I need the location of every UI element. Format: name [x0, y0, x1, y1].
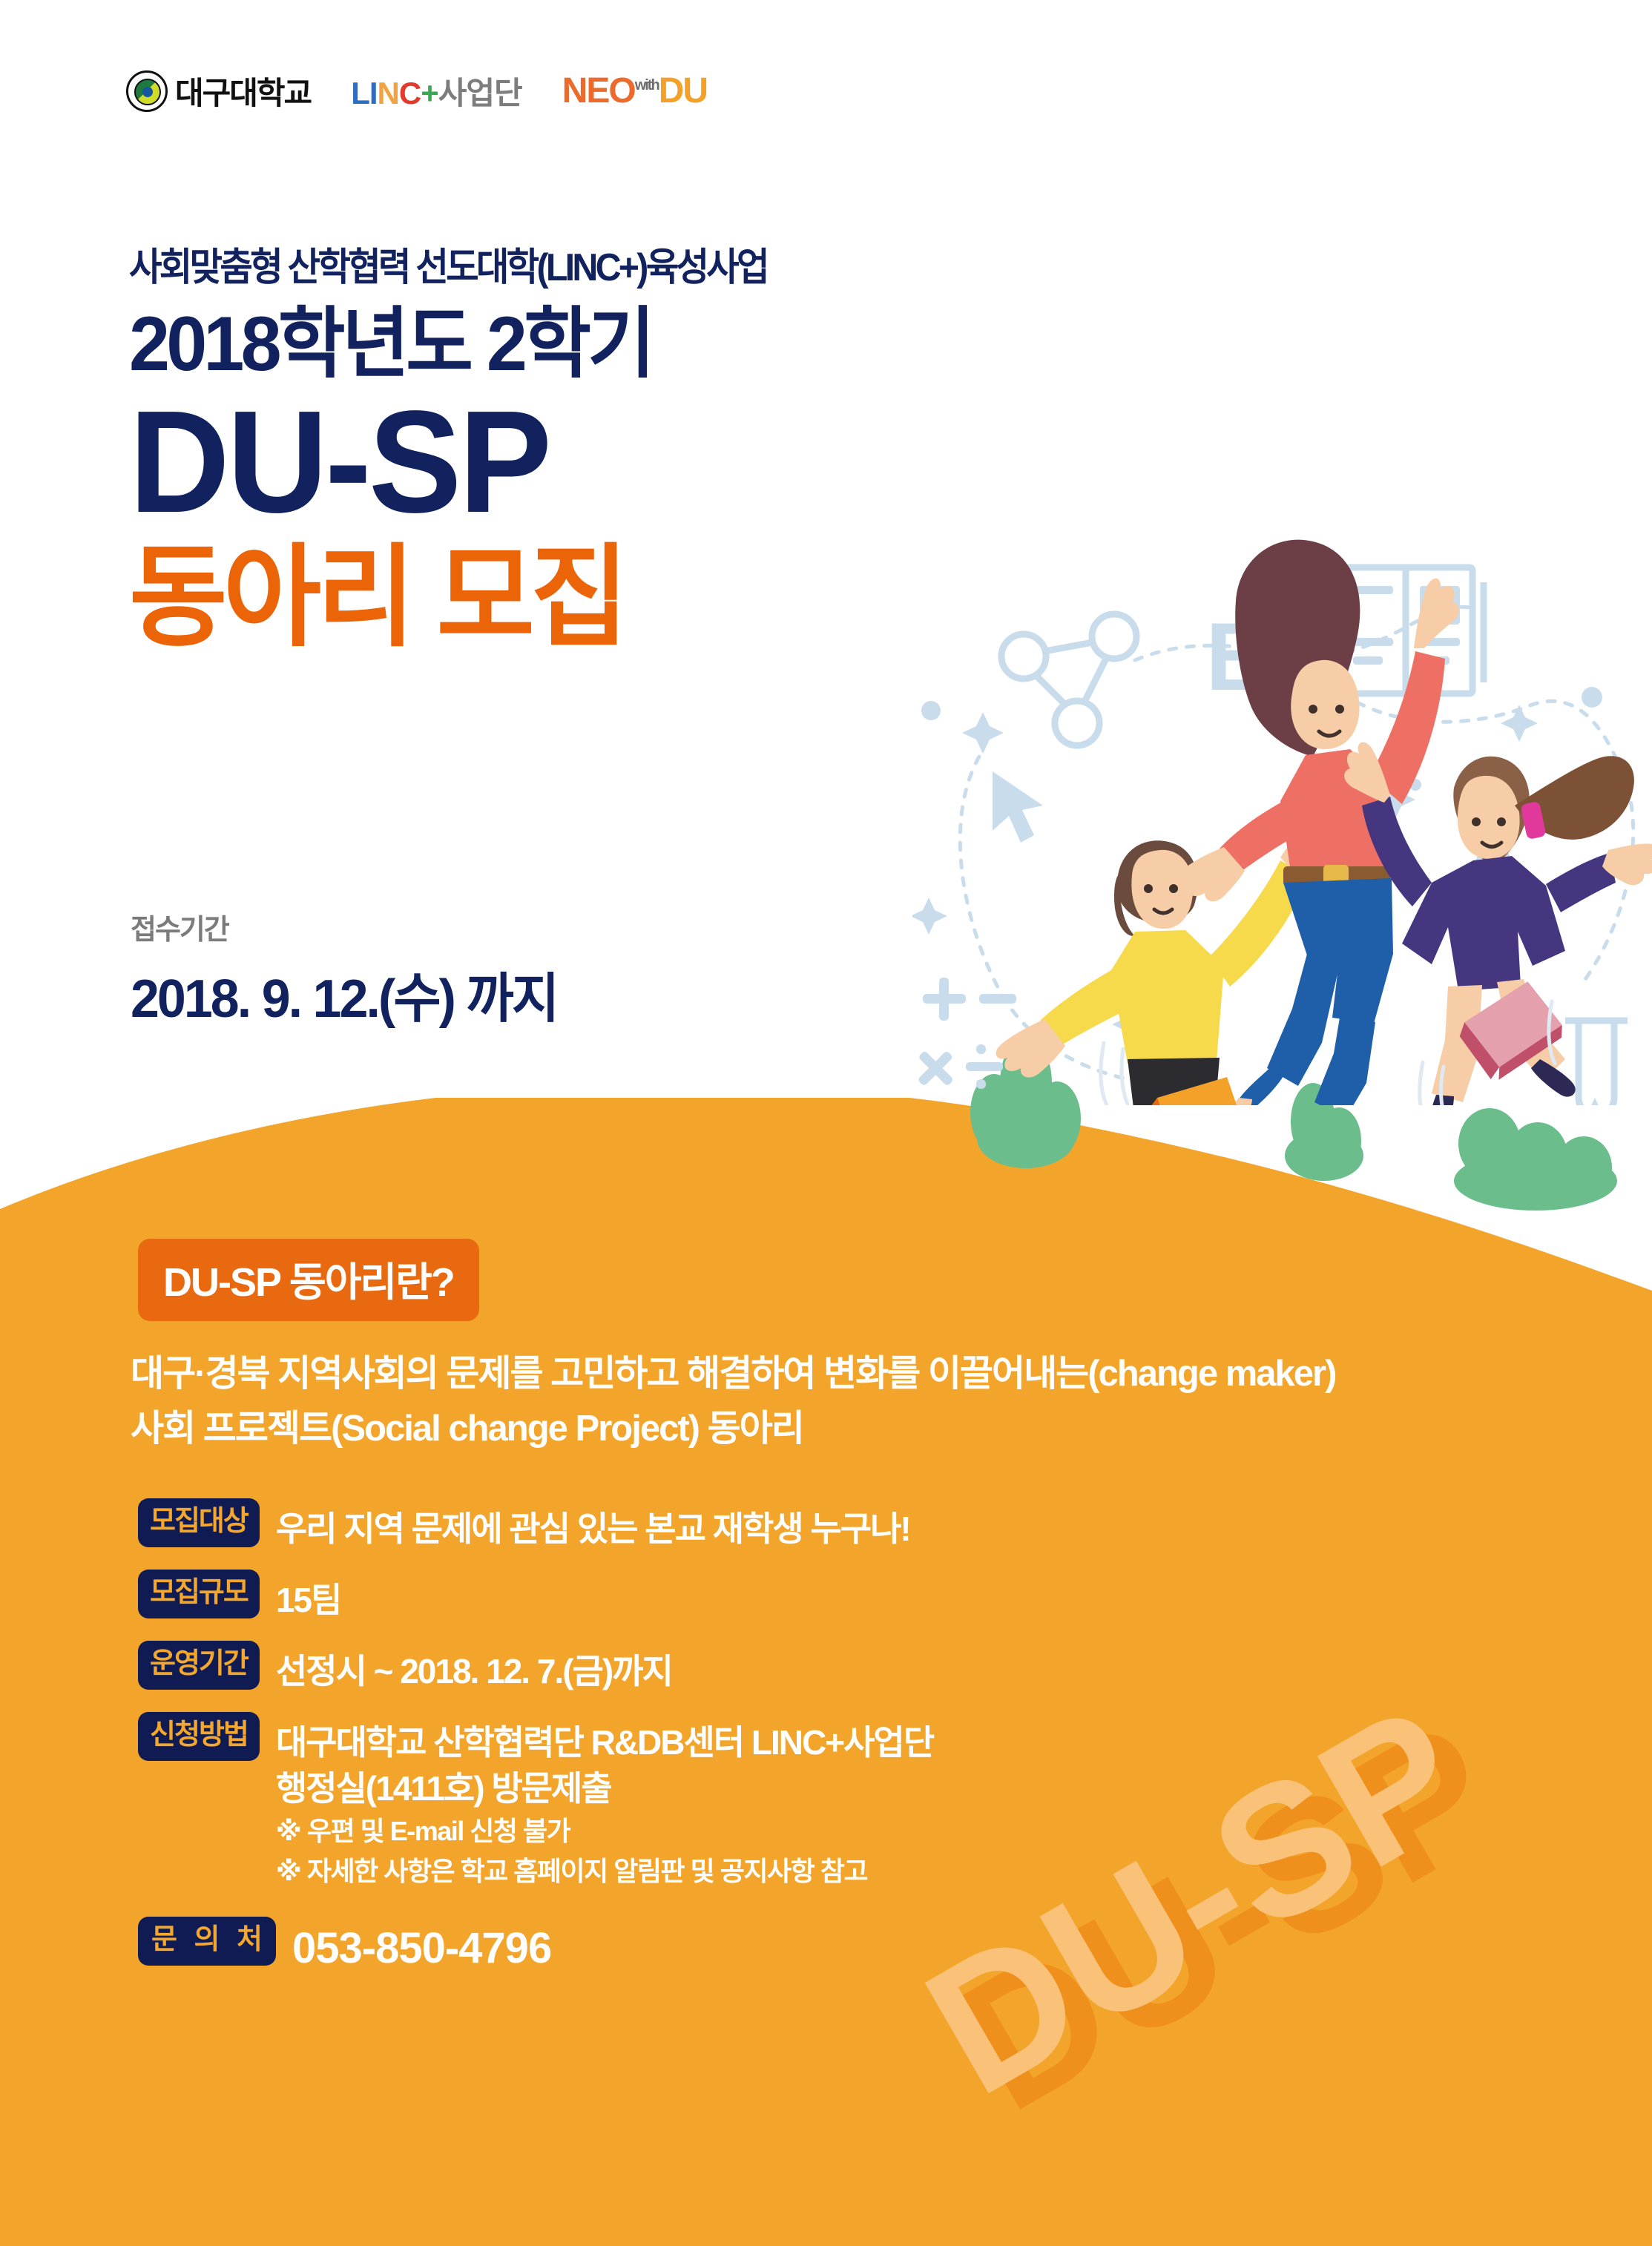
- university-seal-icon: [126, 70, 168, 112]
- description-line-1: 대구·경북 지역사회의 문제를 고민하고 해결하여 변화를 이끌어내는(chan…: [131, 1346, 1652, 1401]
- detail-row-target: 모집대상 우리 지역 문제에 관심 있는 본교 재학생 누구나!: [138, 1498, 1652, 1552]
- linc-plus-logo: LINC+사업단: [351, 68, 521, 113]
- value-scale: 15팀: [276, 1570, 341, 1623]
- application-period-block: 접수기간 2018. 9. 12.(수) 까지: [131, 906, 570, 1033]
- detail-rows: 모집대상 우리 지역 문제에 관심 있는 본교 재학생 누구나! 모집규모 15…: [138, 1498, 1652, 1978]
- math-symbols-icons: [912, 978, 1016, 1098]
- program-title-dusp: DU-SP: [129, 389, 984, 535]
- detail-row-howtoapply: 신청방법 대구대학교 산학협력단 R&DB센터 LINC+사업단 행정실(141…: [138, 1712, 1652, 1891]
- section-title-pill: DU-SP 동아리란?: [138, 1239, 479, 1321]
- detail-row-contact: 문 의 처 053-850-4796: [138, 1917, 1652, 1977]
- year-semester-text: 2018학년도 2학기: [129, 302, 975, 386]
- logo-bar: 대구대학교 LINC+사업단 NEOwithDU: [126, 68, 707, 113]
- bush-right: [1454, 1108, 1617, 1211]
- howtoapply-notes: ※ 우편 및 E-mail 신청 불가 ※ 자세한 사항은 학교 홈페이지 알림…: [276, 1811, 933, 1891]
- headline-block: 사회맞춤형 산학협력 선도대학(LINC+)육성사업 2018학년도 2학기 D…: [129, 236, 1019, 656]
- recruit-title: 동아리 모집: [129, 539, 984, 656]
- value-duration: 선정시 ~ 2018. 12. 7.(금)까지: [276, 1641, 672, 1694]
- period-value: 2018. 9. 12.(수) 까지: [131, 955, 557, 1033]
- howtoapply-line-2: 행정실(1411호) 방문제출: [276, 1765, 933, 1811]
- value-howtoapply: 대구대학교 산학협력단 R&DB센터 LINC+사업단 행정실(1411호) 방…: [276, 1712, 933, 1891]
- note-line-2: ※ 자세한 사항은 학교 홈페이지 알림판 및 공지사항 참고: [276, 1851, 933, 1891]
- kicker-text: 사회맞춤형 산학협력 선도대학(LINC+)육성사업: [129, 236, 957, 292]
- howtoapply-line-1: 대구대학교 산학협력단 R&DB센터 LINC+사업단: [276, 1719, 933, 1765]
- university-name-text: 대구대학교: [175, 68, 311, 113]
- neo-with-du-logo: NEOwithDU: [562, 70, 707, 111]
- description-line-2: 사회 프로젝트(Social change Project) 동아리: [131, 1401, 1652, 1456]
- value-contact-phone[interactable]: 053-850-4796: [292, 1917, 551, 1977]
- note-line-1: ※ 우편 및 E-mail 신청 불가: [276, 1811, 933, 1851]
- cursor-arrow-icon: [993, 771, 1043, 843]
- molecule-icon: [1001, 614, 1136, 745]
- linc-suffix-text: 사업단: [438, 76, 522, 111]
- content-panel: DU-SP 동아리란? 대구·경북 지역사회의 문제를 고민하고 해결하여 변화…: [0, 1239, 1652, 1996]
- linc-letter-l: L: [351, 76, 369, 111]
- detail-row-duration: 운영기간 선정시 ~ 2018. 12. 7.(금)까지: [138, 1641, 1652, 1694]
- badge-target: 모집대상: [138, 1498, 260, 1547]
- with-text: with: [635, 77, 659, 93]
- value-target: 우리 지역 문제에 관심 있는 본교 재학생 누구나!: [276, 1498, 910, 1552]
- du-text: DU: [659, 71, 707, 111]
- linc-letter-i: I: [369, 76, 378, 111]
- poster-root: 대구대학교 LINC+사업단 NEOwithDU 사회맞춤형 산학협력 선도대학…: [0, 0, 1652, 2246]
- badge-contact: 문 의 처: [138, 1917, 276, 1966]
- period-label: 접수기간: [131, 906, 570, 947]
- section-description: 대구·경북 지역사회의 문제를 고민하고 해결하여 변화를 이끌어내는(chan…: [131, 1346, 1652, 1457]
- jumping-students-illustration: B A: [912, 512, 1652, 1105]
- daegu-university-logo: 대구대학교: [126, 68, 311, 113]
- badge-duration: 운영기간: [138, 1641, 260, 1690]
- detail-row-scale: 모집규모 15팀: [138, 1570, 1652, 1623]
- neo-text: NEO: [562, 71, 635, 111]
- badge-scale: 모집규모: [138, 1570, 260, 1618]
- linc-letter-c: C: [399, 76, 421, 111]
- badge-howtoapply: 신청방법: [138, 1712, 260, 1761]
- linc-letter-n: N: [378, 76, 399, 111]
- linc-plus-sign: +: [421, 76, 438, 111]
